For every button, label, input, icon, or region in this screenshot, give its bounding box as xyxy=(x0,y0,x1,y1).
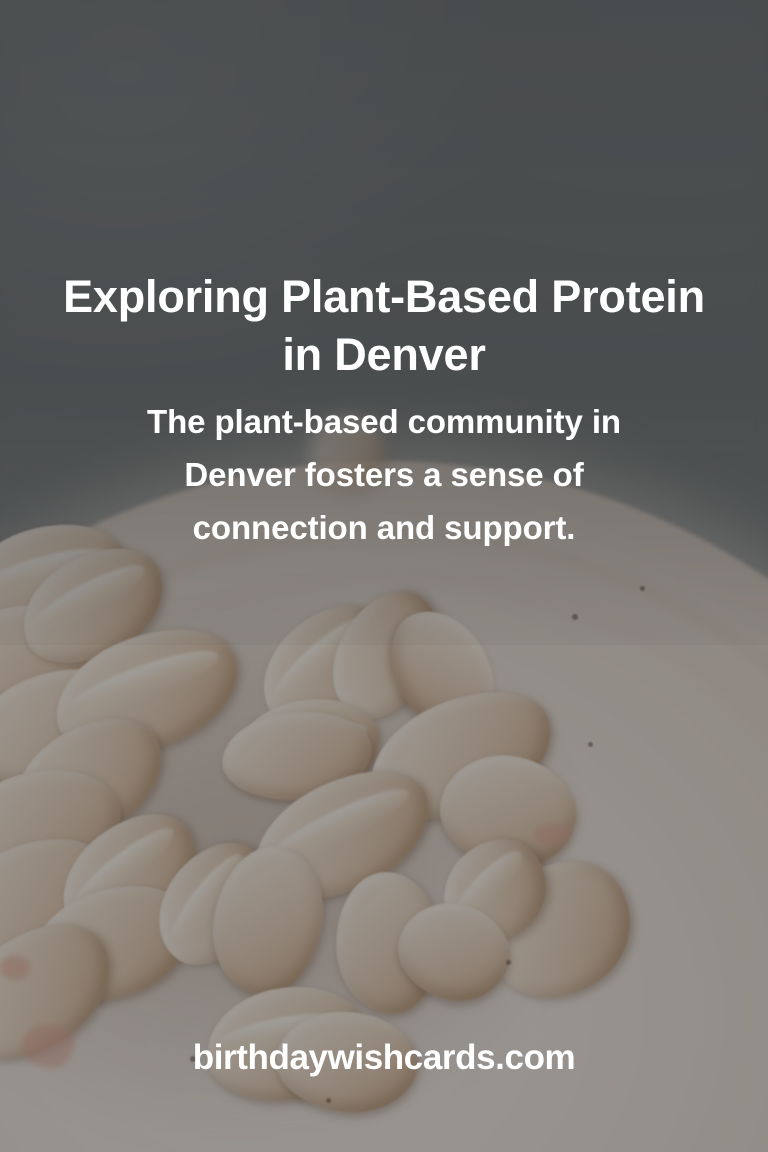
card-title: Exploring Plant-Based Protein in Denver xyxy=(24,268,744,384)
card-subtitle: The plant-based community in Denver fost… xyxy=(90,396,678,554)
quote-card: Exploring Plant-Based Protein in Denver … xyxy=(0,0,768,1152)
card-content: Exploring Plant-Based Protein in Denver … xyxy=(0,0,768,1152)
site-watermark: birthdaywishcards.com xyxy=(0,1038,768,1078)
